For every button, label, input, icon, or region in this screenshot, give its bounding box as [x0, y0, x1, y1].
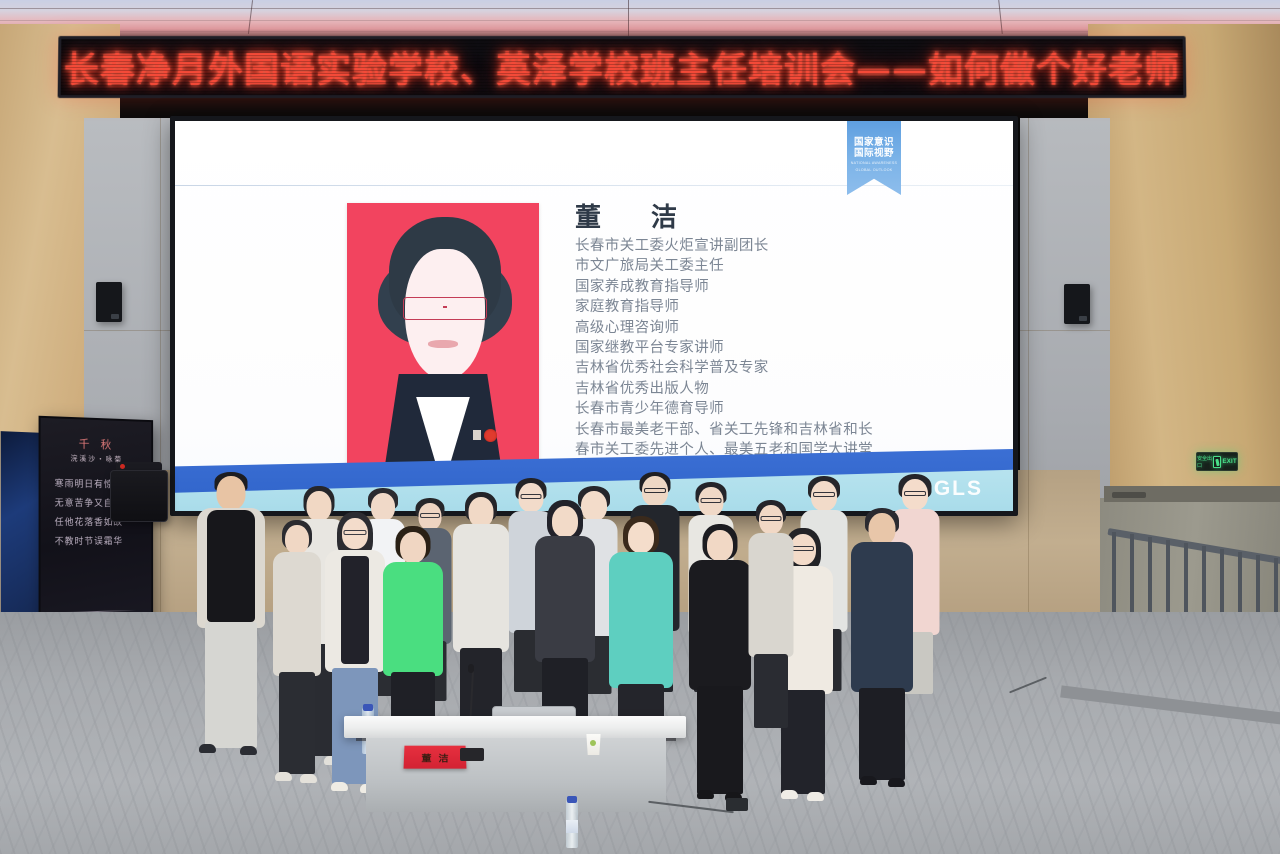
person-middle-row: [688, 524, 752, 808]
wall-speaker-left: [96, 282, 122, 322]
bottle-label: [566, 820, 578, 833]
portrait-glasses: [403, 297, 487, 320]
speaker-nameplate: 董 洁: [404, 746, 467, 769]
bottle-cap: [363, 704, 373, 711]
credential-line: 市文广旅局关工委主任: [575, 256, 995, 276]
badge-english1: NATIONAL AWARENESS: [851, 161, 897, 166]
led-banner: 长春净月外国语实验学校、英泽学校班主任培训会——如何做个好老师: [58, 36, 1187, 98]
nameplate-char1: 董: [421, 750, 431, 763]
running-person-icon: [1213, 456, 1221, 468]
power-indicator-icon: [120, 464, 125, 469]
power-adapter: [726, 798, 748, 811]
credential-line: 长春市关工委火炬宣讲副团长: [575, 236, 995, 256]
credential-line: 国家养成教育指导师: [575, 277, 995, 297]
poem-line: 不教时节误霜华: [55, 533, 142, 552]
projection-screen: 国家意识 国际视野 NATIONAL AWARENESS GLOBAL OUTL…: [170, 116, 1018, 516]
led-banner-text: 长春净月外国语实验学校、英泽学校班主任培训会——如何做个好老师: [64, 42, 1181, 93]
podium-desk-top: [344, 716, 686, 738]
wall-wood-right: [1088, 24, 1280, 564]
national-awareness-badge: 国家意识 国际视野 NATIONAL AWARENESS GLOBAL OUTL…: [847, 121, 901, 195]
credential-line: 家庭教育指导师: [575, 297, 995, 317]
credential-line: 高级心理咨询师: [575, 318, 995, 338]
cup-logo-icon: [590, 740, 596, 746]
badge-english2: GLOBAL OUTLOOK: [855, 168, 892, 173]
person-middle-row: [196, 472, 266, 770]
side-display-blue-panel: [1, 431, 43, 631]
emergency-exit-sign: 安全出口 EXIT: [1196, 452, 1238, 471]
speaker-name: 董 洁: [575, 197, 689, 234]
lecture-hall-photo: 长春净月外国语实验学校、英泽学校班主任培训会——如何做个好老师 国家意识 国际视…: [0, 0, 1280, 854]
microphone-base: [460, 748, 484, 761]
exit-sign-chinese: 安全出口: [1197, 455, 1212, 469]
bottle-cap: [567, 796, 577, 803]
wall-speaker-right: [1064, 284, 1090, 324]
credential-line: 长春市青少年德育导师: [575, 399, 995, 419]
person-middle-row: [748, 500, 794, 730]
credential-line: 吉林省优秀社会科学普及专家: [575, 358, 995, 378]
side-display-panel: 千 秋 浣溪沙・咏菊 寒雨明日有惊鸿 无意苦争又自芳 任他花落香如故 不教时节误…: [39, 416, 154, 639]
nameplate-char2: 洁: [438, 750, 448, 763]
microphone-capsule: [468, 664, 474, 673]
presentation-slide: 国家意识 国际视野 NATIONAL AWARENESS GLOBAL OUTL…: [175, 121, 1013, 511]
exit-sign-english: EXIT: [1222, 459, 1237, 465]
door-closer-arm: [1112, 492, 1146, 498]
badge-line1: 国家意识: [854, 137, 894, 148]
wall-control-panel[interactable]: [110, 470, 168, 522]
person-middle-row: [850, 508, 914, 804]
credential-line: 国家继教平台专家讲师: [575, 338, 995, 358]
person-front-row: [272, 520, 322, 790]
badge-line2: 国际视野: [854, 148, 894, 159]
side-display-title: 千 秋: [41, 434, 152, 453]
credential-line: 吉林省优秀出版人物: [575, 379, 995, 399]
